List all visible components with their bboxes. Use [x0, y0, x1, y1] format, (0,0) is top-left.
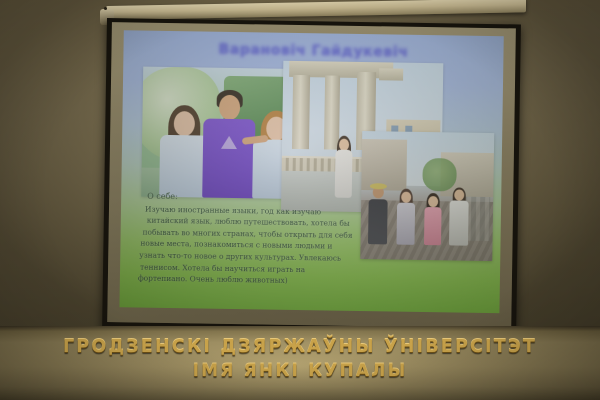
lecture-hall-scene: Варановіч Гайдукевіч	[0, 0, 600, 400]
hat-shape	[369, 183, 386, 189]
body-shape	[335, 150, 353, 198]
venue-sign-line-1: ГРОДЗЕНСКІ ДЗЯРЖАЎНЫ ЎНІВЕРСІТЭТ	[0, 337, 600, 357]
body-shape	[449, 200, 469, 245]
projection-screen-assembly: Варановіч Гайдукевіч	[24, 6, 524, 334]
cornice-shape	[379, 68, 403, 80]
venue-sign-line-2: ІМЯ ЯНКІ КУПАЛЫ	[0, 361, 600, 381]
head-shape	[219, 95, 240, 120]
shirt-triangle-logo	[221, 136, 237, 149]
head-shape	[455, 189, 465, 200]
body-shape	[202, 119, 255, 199]
body-shape	[424, 207, 442, 245]
body-shape	[397, 202, 416, 244]
column-shape	[292, 75, 310, 149]
slide-title: Варановіч Гайдукевіч	[123, 40, 503, 62]
person-girl-pink-top	[424, 193, 443, 245]
presentation-slide: Варановіч Гайдукевіч	[119, 30, 503, 313]
person-teen-white-shirt	[449, 187, 470, 245]
ceiling-mount-bolt	[104, 7, 107, 10]
street-building-left	[361, 139, 407, 191]
projection-screen-frame: Варановіч Гайдукевіч	[102, 18, 521, 336]
person-woman-patterned-dress	[396, 188, 416, 244]
about-me-text-block: О себе: Изучаю иностранные языки, год ка…	[138, 191, 389, 289]
projection-screen-surface: Варановіч Гайдукевіч	[107, 22, 516, 328]
person-woman-in-white	[333, 136, 354, 198]
